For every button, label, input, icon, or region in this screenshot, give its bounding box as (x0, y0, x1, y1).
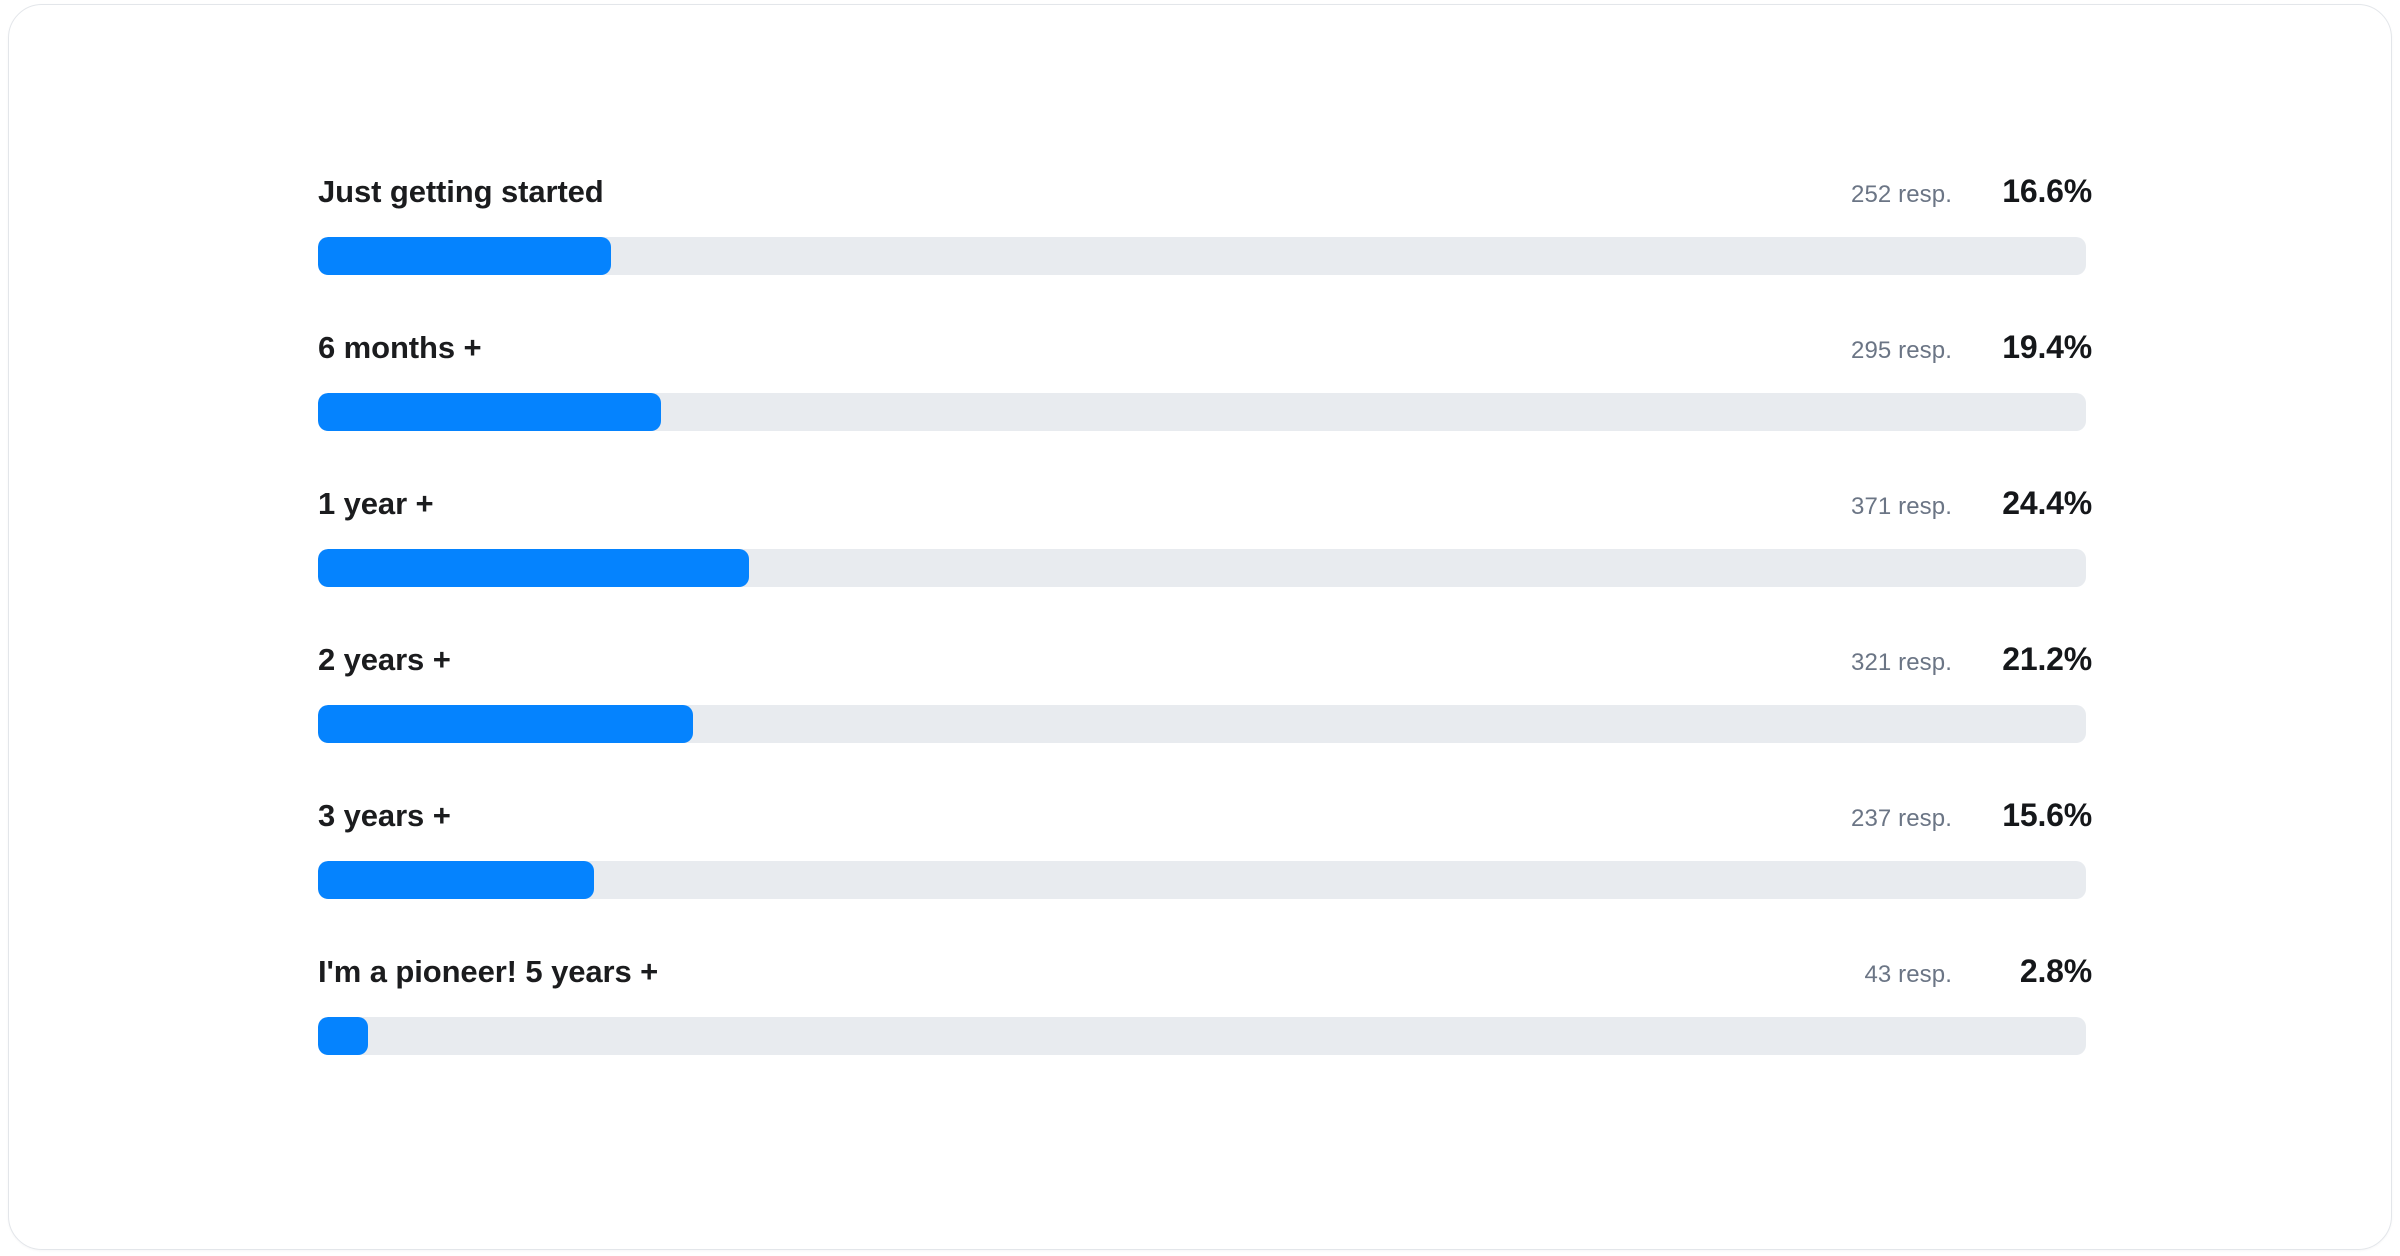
result-row: I'm a pioneer! 5 years +43 resp.2.8% (318, 953, 2094, 1109)
bar-track (318, 393, 2086, 431)
result-row-stats: 252 resp.16.6% (1851, 173, 2092, 210)
result-row-stats: 371 resp.24.4% (1851, 485, 2092, 522)
bar-fill (318, 237, 611, 275)
result-row-header: 3 years +237 resp.15.6% (318, 797, 2094, 843)
option-label: 3 years + (318, 798, 451, 834)
percent-value: 19.4% (1974, 329, 2092, 366)
percent-value: 24.4% (1974, 485, 2092, 522)
percent-value: 15.6% (1974, 797, 2092, 834)
response-count: 321 resp. (1851, 649, 1952, 677)
result-row: Just getting started252 resp.16.6% (318, 173, 2094, 329)
response-count: 295 resp. (1851, 337, 1952, 365)
response-count: 237 resp. (1851, 805, 1952, 833)
bar-fill (318, 549, 749, 587)
results-list: Just getting started252 resp.16.6%6 mont… (318, 173, 2094, 1109)
bar-track (318, 237, 2086, 275)
result-row-header: 6 months +295 resp.19.4% (318, 329, 2094, 375)
result-row-stats: 321 resp.21.2% (1851, 641, 2092, 678)
result-row-header: 2 years +321 resp.21.2% (318, 641, 2094, 687)
result-row-stats: 295 resp.19.4% (1851, 329, 2092, 366)
result-row-header: 1 year +371 resp.24.4% (318, 485, 2094, 531)
bar-track (318, 1017, 2086, 1055)
percent-value: 21.2% (1974, 641, 2092, 678)
result-row-stats: 237 resp.15.6% (1851, 797, 2092, 834)
result-row-stats: 43 resp.2.8% (1864, 953, 2092, 990)
response-count: 43 resp. (1864, 961, 1952, 989)
bar-track (318, 705, 2086, 743)
option-label: 2 years + (318, 642, 451, 678)
option-label: 6 months + (318, 330, 482, 366)
bar-fill (318, 1017, 368, 1055)
bar-fill (318, 393, 661, 431)
bar-fill (318, 861, 594, 899)
response-count: 252 resp. (1851, 181, 1952, 209)
result-row: 1 year +371 resp.24.4% (318, 485, 2094, 641)
bar-track (318, 549, 2086, 587)
option-label: I'm a pioneer! 5 years + (318, 954, 658, 990)
survey-results-card: Just getting started252 resp.16.6%6 mont… (8, 4, 2392, 1250)
result-row: 6 months +295 resp.19.4% (318, 329, 2094, 485)
response-count: 371 resp. (1851, 493, 1952, 521)
result-row: 2 years +321 resp.21.2% (318, 641, 2094, 797)
percent-value: 2.8% (1974, 953, 2092, 990)
bar-track (318, 861, 2086, 899)
bar-fill (318, 705, 693, 743)
option-label: 1 year + (318, 486, 434, 522)
option-label: Just getting started (318, 174, 604, 210)
result-row-header: I'm a pioneer! 5 years +43 resp.2.8% (318, 953, 2094, 999)
result-row: 3 years +237 resp.15.6% (318, 797, 2094, 953)
result-row-header: Just getting started252 resp.16.6% (318, 173, 2094, 219)
percent-value: 16.6% (1974, 173, 2092, 210)
